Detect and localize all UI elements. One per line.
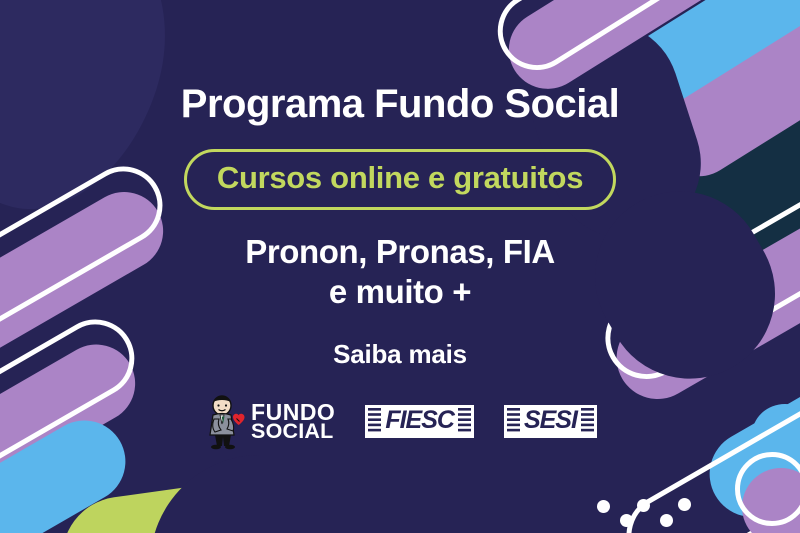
- banner-title: Programa Fundo Social: [181, 82, 619, 127]
- logo-fiesc: FIESC: [365, 405, 474, 438]
- fundo-word-line2: SOCIAL: [251, 422, 335, 440]
- fiesc-wordmark: FIESC: [381, 408, 458, 435]
- subtitle-line-1: Pronon, Pronas, FIA: [245, 232, 555, 272]
- fiesc-stripes-right-icon: [458, 408, 471, 435]
- logo-fundo-social: FUNDO SOCIAL: [203, 394, 335, 450]
- subtitle-line-2: e muito +: [245, 272, 555, 312]
- sesi-wordmark: SESI: [520, 408, 581, 435]
- promo-banner: Programa Fundo Social Cursos online e gr…: [0, 0, 800, 533]
- banner-content: Programa Fundo Social Cursos online e gr…: [0, 0, 800, 533]
- man-holding-heart-icon: [203, 394, 247, 450]
- banner-subtitle: Pronon, Pronas, FIA e muito +: [245, 232, 555, 313]
- learn-more-link[interactable]: Saiba mais: [333, 339, 467, 370]
- logo-row: FUNDO SOCIAL FIESC: [203, 394, 597, 450]
- sesi-stripes-left-icon: [507, 408, 520, 435]
- logo-sesi: SESI: [504, 405, 597, 438]
- sesi-stripes-right-icon: [581, 408, 594, 435]
- courses-badge: Cursos online e gratuitos: [184, 149, 616, 210]
- fundo-social-wordmark: FUNDO SOCIAL: [251, 403, 335, 440]
- fiesc-stripes-left-icon: [368, 408, 381, 435]
